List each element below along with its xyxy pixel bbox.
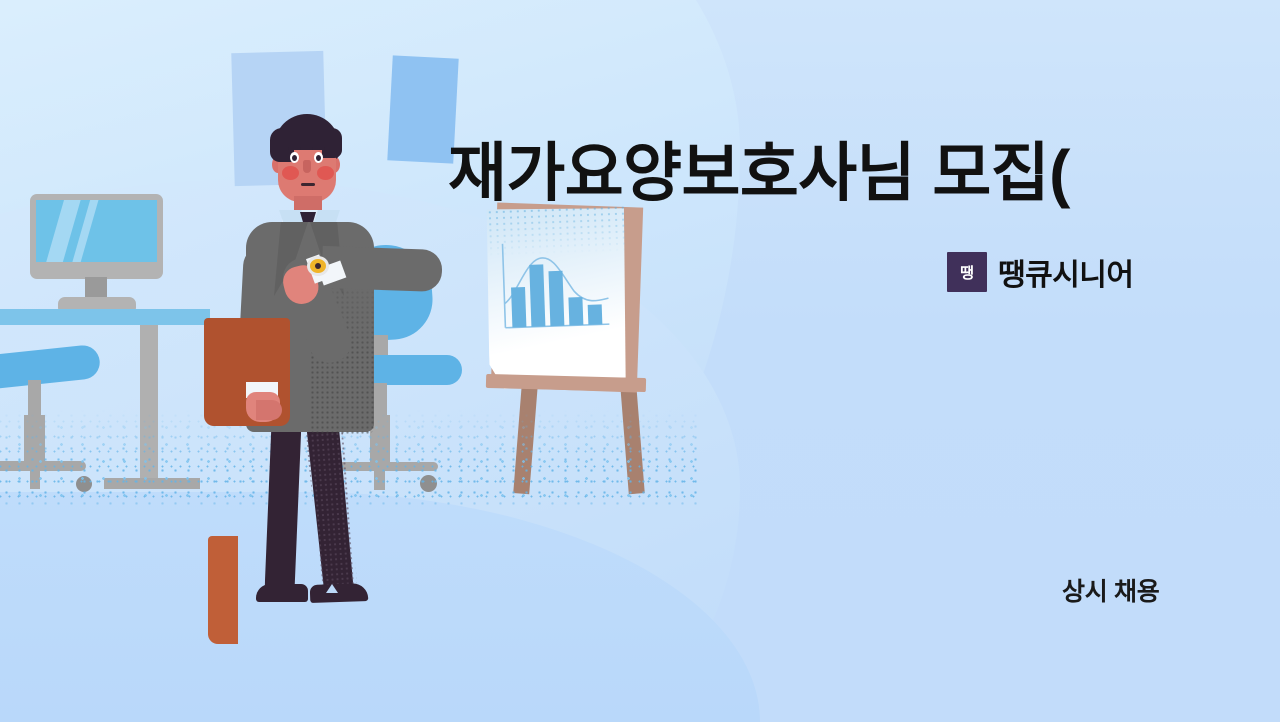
businessman-illustration [200, 100, 430, 620]
left-leg-icon [265, 422, 302, 593]
monitor-screen-icon [36, 200, 157, 262]
left-eyebrow-icon [288, 147, 301, 150]
company-name: 땡큐시니어 [998, 250, 1134, 294]
right-pupil-icon [316, 155, 321, 161]
company-identity[interactable]: 땡 땡큐시니어 [947, 250, 1134, 294]
bar-chart-icon [498, 238, 611, 334]
left-shoe-icon [256, 584, 308, 602]
hair-side-right-icon [322, 128, 342, 158]
right-leg-texture-icon [304, 421, 358, 596]
mouth-icon [301, 183, 315, 186]
briefcase-highlight-icon [208, 536, 238, 644]
company-logo: 땡 [947, 252, 987, 292]
nose-icon [303, 160, 311, 173]
watch-hands-icon [315, 263, 321, 269]
left-fingers-icon [256, 400, 282, 420]
status-badge: 상시 채용 [1062, 572, 1159, 608]
left-pupil-icon [292, 155, 297, 161]
page-title: 재가요양보호사님 모집( [448, 137, 1188, 211]
desk-surface-icon [0, 309, 210, 325]
left-blush-icon [282, 166, 299, 180]
right-blush-icon [317, 166, 334, 180]
right-eyebrow-icon [312, 147, 325, 150]
job-posting-poster: 재가요양보호사님 모집( 땡 땡큐시니어 상시 채용 [0, 0, 1280, 722]
right-shoe-icon [310, 583, 369, 603]
